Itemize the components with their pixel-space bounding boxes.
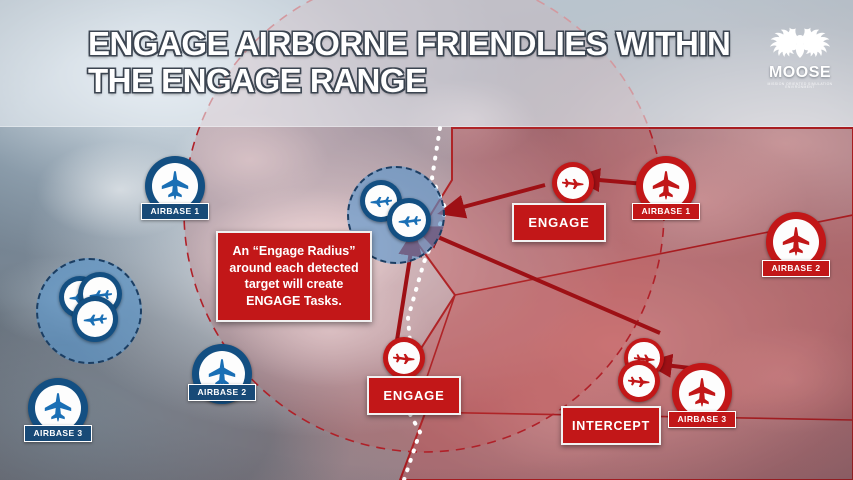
jet-top-icon	[157, 168, 193, 204]
jet-top-icon	[40, 390, 76, 426]
jet-side-icon	[560, 170, 586, 196]
red-contact-north[interactable]	[552, 162, 594, 204]
engage-task-box-north[interactable]: ENGAGE	[512, 203, 606, 242]
red-airbase-1-label: AIRBASE 1	[632, 203, 700, 220]
blue-airbase-2-label: AIRBASE 2	[188, 384, 256, 401]
red-contact-east-b[interactable]	[618, 360, 660, 402]
page-title-line-1: ENGAGE AIRBORNE FRIENDLIES WITHIN	[88, 26, 778, 63]
engage-task-box-south[interactable]: ENGAGE	[367, 376, 461, 415]
red-contact-southwest[interactable]	[383, 337, 425, 379]
jet-side-icon	[396, 207, 423, 234]
jet-side-icon	[81, 305, 109, 333]
page-title: ENGAGE AIRBORNE FRIENDLIES WITHIN THE EN…	[88, 26, 778, 100]
red-airbase-3-label: AIRBASE 3	[668, 411, 736, 428]
blue-airbase-1-label: AIRBASE 1	[141, 203, 209, 220]
engage-radius-callout: An “Engage Radius” around each detected …	[216, 231, 372, 322]
jet-top-icon	[778, 224, 814, 260]
moose-logo-word: MOOSE	[761, 65, 839, 81]
jet-top-icon	[684, 375, 720, 411]
red-airbase-2-label: AIRBASE 2	[762, 260, 830, 277]
blue-airbase-3-label: AIRBASE 3	[24, 425, 92, 442]
intercept-task-box[interactable]: INTERCEPT	[561, 406, 661, 445]
blue-jet-icon-w3[interactable]	[72, 296, 118, 342]
blue-jet-icon-c2[interactable]	[387, 198, 431, 242]
slide-canvas: AIRBASE 1 AIRBASE 2 AIRBASE 3 AIRBASE 1	[0, 0, 853, 480]
moose-logo-subtitle: MISSION ORIENTED SIMULATION ENVIRONMENT	[761, 83, 839, 90]
jet-side-icon	[626, 368, 652, 394]
jet-side-icon	[391, 345, 417, 371]
page-title-line-2: THE ENGAGE RANGE	[88, 63, 778, 100]
jet-top-icon	[648, 168, 684, 204]
moose-logo[interactable]: MOOSE MISSION ORIENTED SIMULATION ENVIRO…	[761, 14, 839, 90]
moose-antlers-icon	[767, 14, 833, 64]
